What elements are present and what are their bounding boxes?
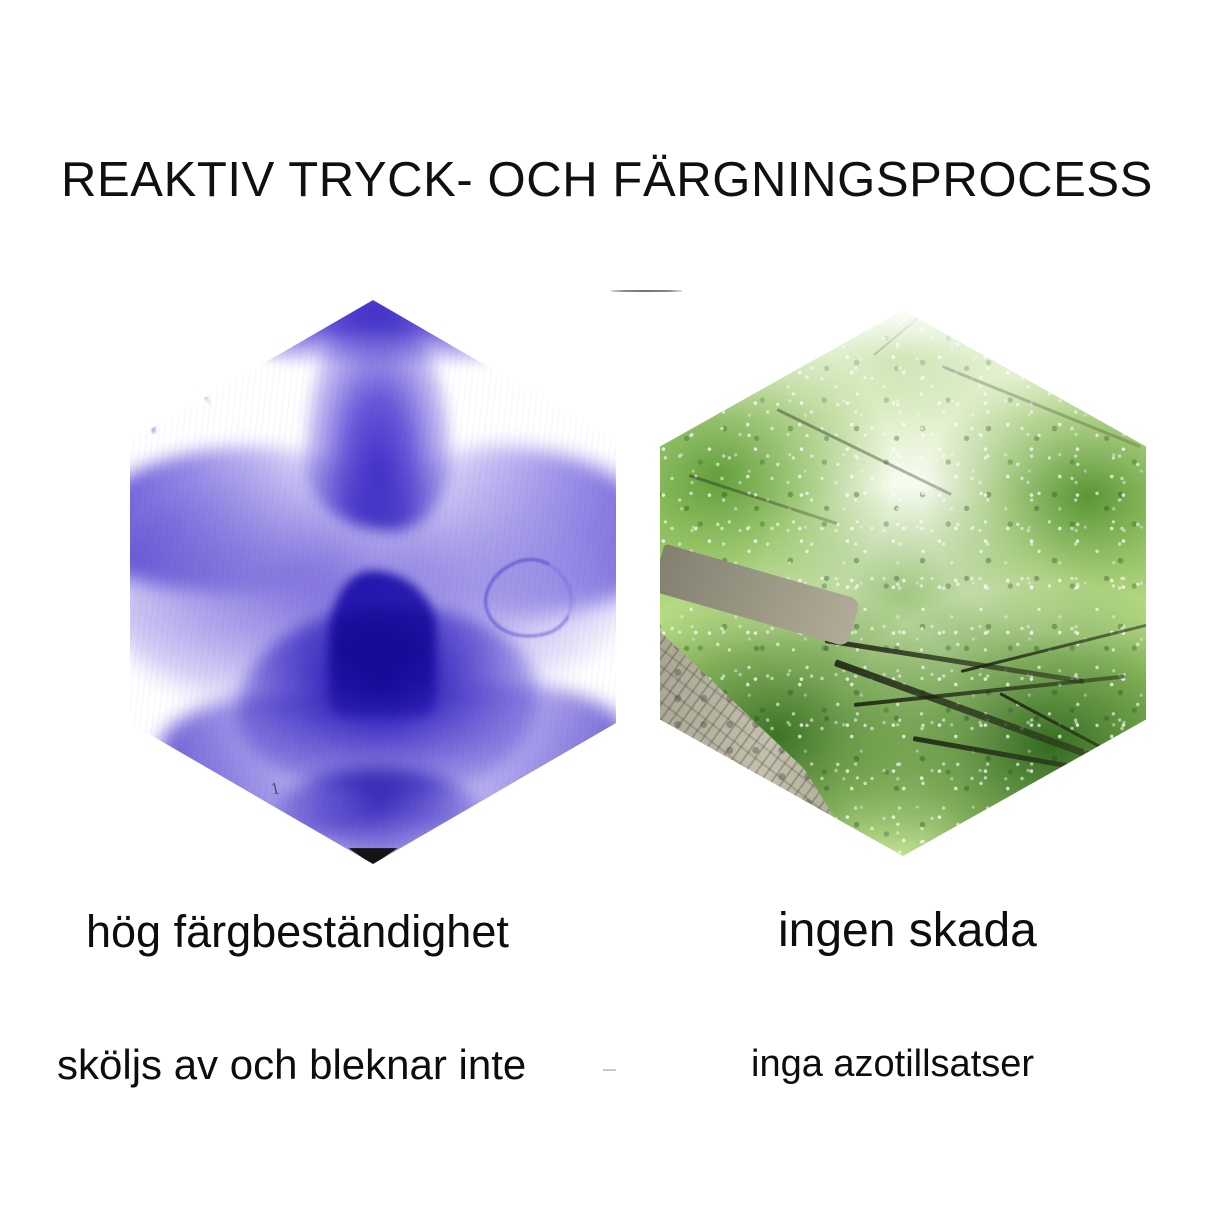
- title-divider: [611, 290, 682, 292]
- ink-artwork-layer: 1: [130, 300, 616, 864]
- blue-ink-in-water-image: 1: [130, 300, 616, 864]
- caption-no-harm-secondary: inga azotillsatser: [751, 1040, 1034, 1088]
- ink-bottom-vertex-mark: [349, 848, 398, 864]
- green-tree-canopy-image: [660, 310, 1146, 856]
- tree-artwork-layer: [660, 310, 1146, 856]
- ink-streak-texture: [130, 300, 616, 864]
- caption-no-harm-primary: ingen skada: [778, 903, 1037, 959]
- caption-dye-fastness-primary: hög färgbeständighet: [86, 905, 509, 959]
- canopy-top-fade: [660, 310, 1146, 856]
- stray-dash-artifact: [603, 1069, 616, 1071]
- page-title: REAKTIV TRYCK- OCH FÄRGNINGSPROCESS: [0, 152, 1214, 208]
- caption-dye-fastness-secondary: sköljs av och bleknar inte: [57, 1040, 526, 1090]
